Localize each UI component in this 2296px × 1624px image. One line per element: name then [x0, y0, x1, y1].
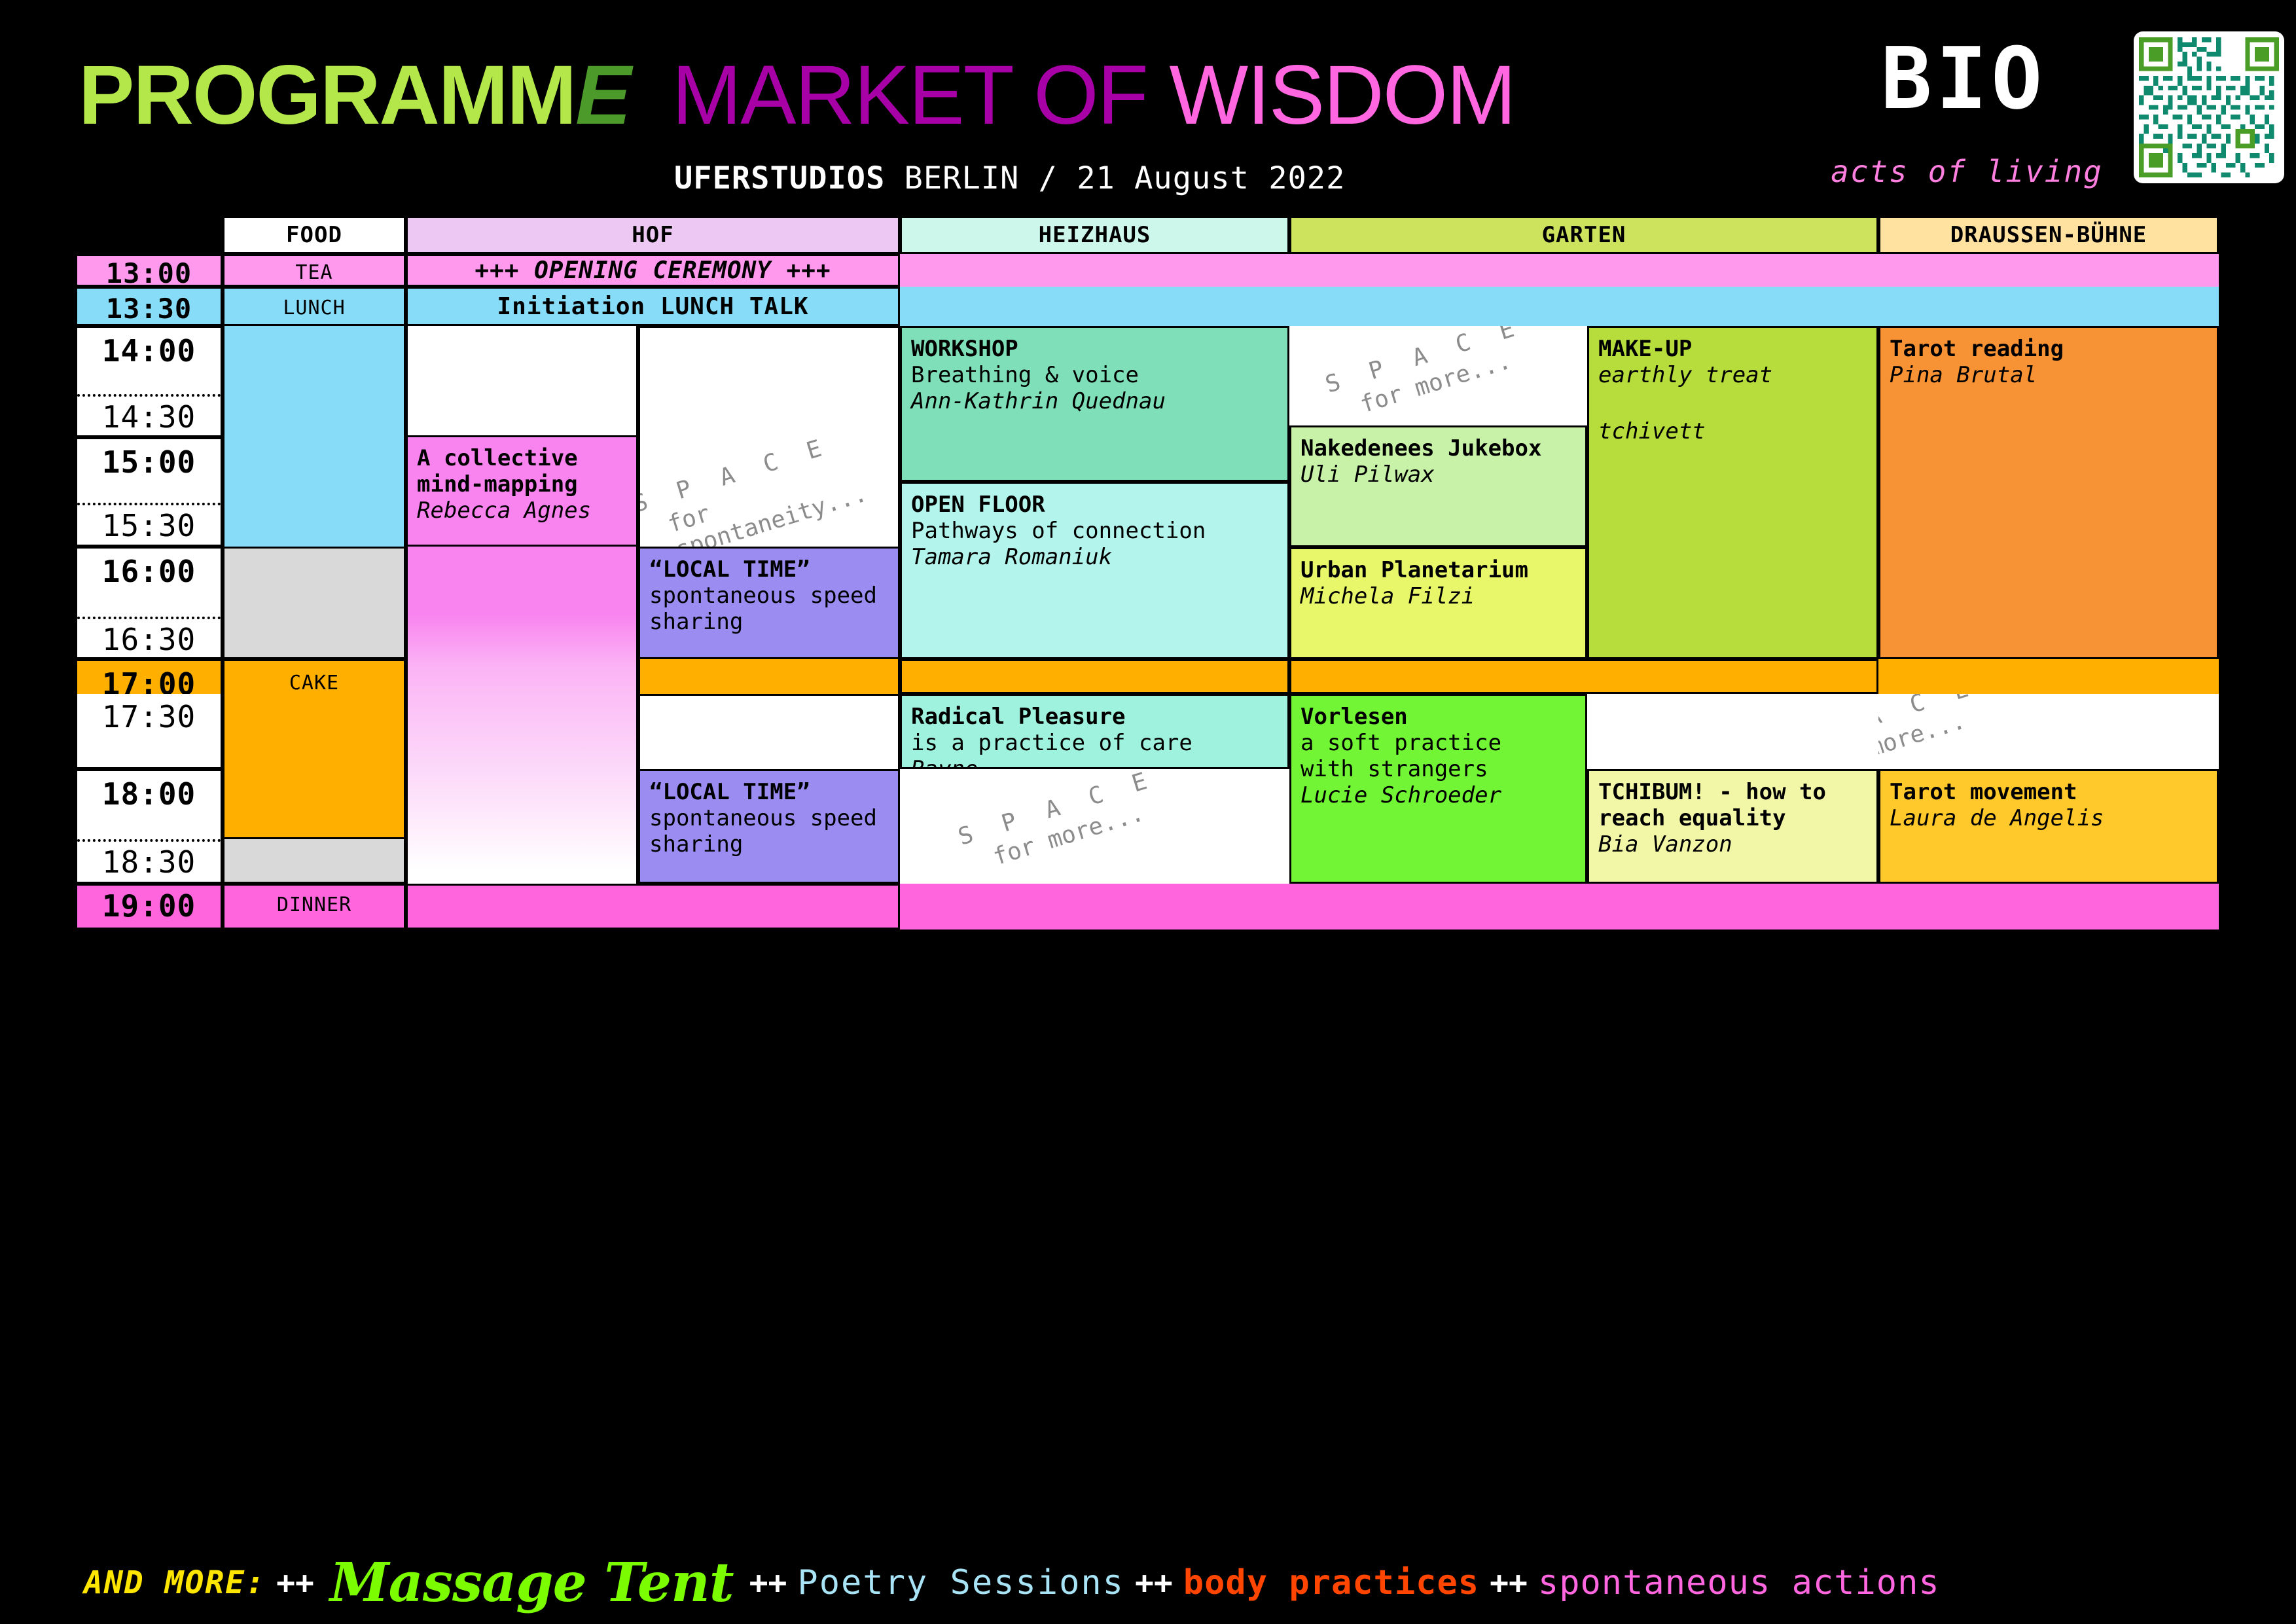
- column-header-food: FOOD: [223, 216, 406, 254]
- food-cell-gap-1530: [223, 547, 406, 659]
- time-label-1330: 13:30: [75, 287, 223, 326]
- event-title: “LOCAL TIME”: [649, 779, 889, 805]
- title-market-of: MARKET OF: [672, 48, 1169, 142]
- footer-spontaneous: spontaneous actions: [1538, 1563, 1940, 1602]
- time-label-1730: 17:30: [75, 694, 223, 769]
- event-local-time-2[interactable]: “LOCAL TIME” spontaneous speed sharing e…: [638, 769, 900, 884]
- page-header: PROGRAMMEMARKET OF WISDOM UFERSTUDIOS BE…: [0, 0, 2296, 216]
- empty-draussen-1300: [1878, 254, 2219, 287]
- venue-date: BERLIN / 21 August 2022: [885, 160, 1345, 196]
- column-header-hof: HOF: [406, 216, 900, 254]
- footer-plus-1: ++: [266, 1564, 325, 1601]
- space-mark-more-heizhaus: S P A C E for more...: [955, 769, 1167, 879]
- footer-poetry: Poetry Sessions: [797, 1563, 1124, 1602]
- event-artist: Laura de Angelis: [1890, 805, 2208, 831]
- event-artist: Lucie Schroeder: [1300, 782, 1576, 808]
- event-artist: Rayne: [911, 756, 1278, 769]
- event-subtitle: earthly treat: [1598, 362, 1867, 388]
- banner-opening-ceremony: +++ OPENING CEREMONY +++: [406, 254, 900, 287]
- event-title: Tarot reading: [1890, 336, 2208, 362]
- time-label-1300: 13:00: [75, 254, 223, 287]
- empty-heizhaus-1330: [900, 287, 1289, 326]
- event-tarot-reading[interactable]: Tarot reading Pina Brutal: [1878, 326, 2219, 659]
- heizhaus-cake-band: [900, 659, 1289, 694]
- space-mark-line1: S P A C E: [1322, 326, 1525, 399]
- event-title2: mind-mapping: [417, 471, 627, 497]
- hof-dinner-band: [406, 884, 900, 929]
- event-artist: Uli Pilwax: [1300, 461, 1576, 488]
- garten-space-more-top: S P A C E for more...: [1289, 326, 1587, 425]
- event-artist: tchivett: [1598, 418, 1867, 444]
- time-label-1830: 18:30: [75, 839, 223, 884]
- banner-lunch-talk: Initiation LUNCH TALK: [406, 287, 900, 326]
- time-label-1900: 19:00: [75, 884, 223, 929]
- schedule-grid: FOOD HOF HEIZHAUS GARTEN DRAUSSEN-BÜHNE …: [0, 216, 2296, 1538]
- draussen-space-more: S P A C E for more...: [1878, 694, 2219, 769]
- event-urban-planetarium[interactable]: Urban Planetarium Michela Filzi: [1289, 547, 1587, 659]
- garten-cake-band: [1289, 659, 1878, 694]
- draussen-cake-band: [1878, 659, 2219, 694]
- event-subtitle2: sharing: [649, 609, 889, 635]
- event-subtitle: Breathing & voice: [911, 362, 1278, 388]
- event-title: “LOCAL TIME”: [649, 556, 889, 583]
- title-programme-e: E: [575, 48, 630, 142]
- event-title: OPEN FLOOR: [911, 492, 1278, 518]
- empty-garten-1300: [1289, 254, 1878, 287]
- space-mark-line1: S P A C E: [638, 416, 888, 518]
- event-subtitle: is a practice of care: [911, 730, 1278, 756]
- food-cell-gap-1830: [223, 839, 406, 884]
- food-cell-lunch-extension: [223, 326, 406, 547]
- event-subtitle2: with strangers: [1300, 756, 1576, 782]
- event-radical-pleasure[interactable]: Radical Pleasure is a practice of care R…: [900, 694, 1289, 769]
- footer-massage-tent: Massage Tent: [325, 1551, 739, 1614]
- event-artist: Rebecca Agnes: [417, 497, 627, 524]
- space-mark-line2: for more...: [1878, 701, 1988, 769]
- footer-plus-2: ++: [739, 1564, 798, 1601]
- column-header-draussen: DRAUSSEN-BÜHNE: [1878, 216, 2219, 254]
- footer-bar: AND MORE: ++ Massage Tent ++ Poetry Sess…: [0, 1542, 2296, 1624]
- event-artist: Ann-Kathrin Quednau: [911, 388, 1278, 414]
- food-cell-cake: CAKE: [223, 659, 406, 839]
- event-artist: Michela Filzi: [1300, 583, 1576, 609]
- hof-left-empty-top: [406, 326, 638, 435]
- space-mark-line1: S P A C E: [955, 769, 1158, 851]
- empty-draussen-1330: [1878, 287, 2219, 326]
- event-workshop-breathing[interactable]: WORKSHOP Breathing & voice Ann-Kathrin Q…: [900, 326, 1289, 482]
- title-wisdom: WISDOM: [1169, 48, 1515, 142]
- page-subtitle: UFERSTUDIOS BERLIN / 21 August 2022: [674, 160, 1345, 196]
- event-subtitle: a soft practice: [1300, 730, 1576, 756]
- event-title: MAKE-UP: [1598, 336, 1867, 362]
- event-make-up[interactable]: MAKE-UP earthly treat tchivett: [1587, 326, 1878, 659]
- garten-dinner-band: [1289, 884, 1878, 929]
- event-vorlesen[interactable]: Vorlesen a soft practice with strangers …: [1289, 694, 1587, 884]
- food-cell-lunch: LUNCH: [223, 287, 406, 326]
- space-mark-line2: for more...: [1357, 341, 1534, 418]
- food-cell-tea: TEA: [223, 254, 406, 287]
- venue-name: UFERSTUDIOS: [674, 160, 885, 196]
- hof-right-empty-1730: [638, 694, 900, 769]
- hof-right-cake-band: [638, 659, 900, 694]
- event-tchibum[interactable]: TCHIBUM! - how to reach equality Bia Van…: [1587, 769, 1878, 884]
- bio-tagline: acts of living: [1826, 154, 2108, 189]
- time-label-1630: 16:30: [75, 617, 223, 659]
- food-cell-dinner: DINNER: [223, 884, 406, 929]
- space-mark-line2: for spontaneity...: [664, 444, 900, 564]
- heizhaus-space-more: S P A C E for more...: [900, 769, 1289, 884]
- time-label-1530: 15:30: [75, 503, 223, 547]
- footer-plus-3: ++: [1124, 1564, 1183, 1601]
- space-mark-more-garten-top: S P A C E for more...: [1322, 326, 1534, 425]
- qr-code-icon[interactable]: [2134, 31, 2284, 183]
- event-subtitle: Pathways of connection: [911, 518, 1278, 544]
- bio-wordmark: BIO: [1826, 29, 2101, 128]
- footer-plus-4: ++: [1479, 1564, 1538, 1601]
- title-programm: PROGRAMM: [79, 48, 575, 142]
- event-subtitle: spontaneous speed: [649, 805, 889, 831]
- garten-space-more-bottom: [1587, 694, 1878, 769]
- page-title: PROGRAMMEMARKET OF WISDOM: [79, 47, 1515, 143]
- column-header-heizhaus: HEIZHAUS: [900, 216, 1289, 254]
- event-title: A collective: [417, 445, 627, 471]
- event-title: Radical Pleasure: [911, 704, 1278, 730]
- event-subtitle2: sharing: [649, 831, 889, 857]
- column-header-garten: GARTEN: [1289, 216, 1878, 254]
- event-title: TCHIBUM! - how to: [1598, 779, 1867, 805]
- empty-garten-1330: [1289, 287, 1878, 326]
- event-title2: reach equality: [1598, 805, 1867, 831]
- event-local-time-1[interactable]: “LOCAL TIME” spontaneous speed sharing a…: [638, 547, 900, 659]
- space-mark-more-draussen: S P A C E for more...: [1878, 694, 1988, 769]
- space-mark-line2: for more...: [990, 793, 1167, 871]
- footer-body-practices: body practices: [1183, 1563, 1479, 1602]
- event-artist: Pina Brutal: [1890, 362, 2208, 388]
- event-title: WORKSHOP: [911, 336, 1278, 362]
- bio-logo-block: BIO acts of living: [1826, 13, 2284, 203]
- event-artist: Tamara Romaniuk: [911, 544, 1278, 570]
- empty-heizhaus-1300: [900, 254, 1289, 287]
- event-subtitle: spontaneous speed: [649, 583, 889, 609]
- event-title: Tarot movement: [1890, 779, 2208, 805]
- event-mind-mapping[interactable]: A collective mind-mapping Rebecca Agnes: [406, 435, 638, 547]
- hof-left-gradient-tail: [406, 547, 638, 884]
- draussen-dinner-band: [1878, 884, 2219, 929]
- event-title: Nakedenees Jukebox: [1300, 435, 1576, 461]
- heizhaus-dinner-band: [900, 884, 1289, 929]
- event-title: Vorlesen: [1300, 704, 1576, 730]
- space-mark-line1: S P A C E: [1878, 694, 1980, 759]
- event-open-floor[interactable]: OPEN FLOOR Pathways of connection Tamara…: [900, 482, 1289, 659]
- time-label-1430: 14:30: [75, 394, 223, 437]
- event-nakedenees-jukebox[interactable]: Nakedenees Jukebox Uli Pilwax: [1289, 425, 1587, 547]
- footer-and-more: AND MORE:: [84, 1564, 266, 1601]
- event-artist: Bia Vanzon: [1598, 831, 1867, 857]
- event-title: Urban Planetarium: [1300, 557, 1576, 583]
- event-tarot-movement[interactable]: Tarot movement Laura de Angelis: [1878, 769, 2219, 884]
